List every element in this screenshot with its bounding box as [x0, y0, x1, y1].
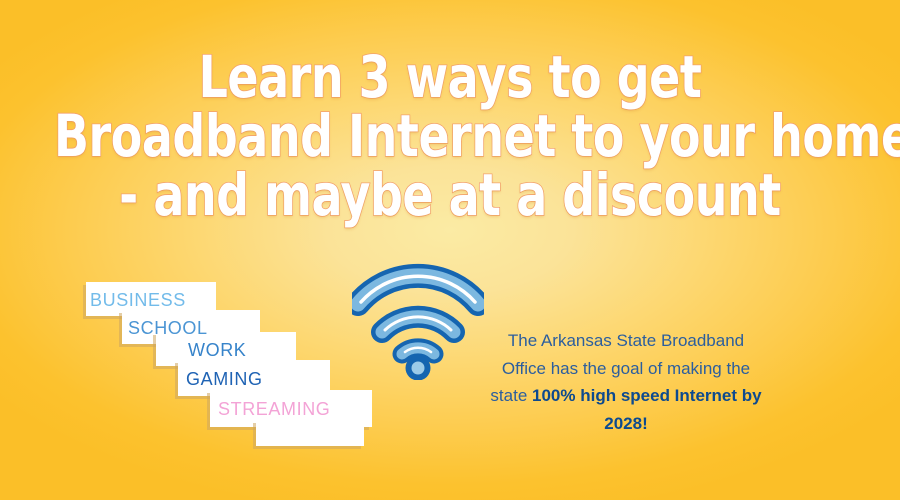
staircase-label-gaming: GAMING — [186, 370, 263, 388]
staircase-label-work: WORK — [188, 341, 246, 359]
staircase-label-school: SCHOOL — [128, 319, 208, 337]
broadband-promo-poster: Learn 3 ways to get Broadband Internet t… — [0, 0, 900, 500]
wifi-signal-icon — [352, 258, 484, 380]
wifi-dot-center — [412, 362, 425, 375]
headline-line-3: - and maybe at a discount — [54, 166, 846, 224]
goal-text-emphasis: 100% high speed Internet by 2028! — [532, 386, 762, 433]
broadband-goal-text: The Arkansas State Broadband Office has … — [484, 327, 768, 437]
staircase-label-streaming: STREAMING — [218, 400, 330, 418]
use-case-staircase: BUSINESS SCHOOL WORK GAMING STREAMING — [78, 282, 368, 447]
headline-line-1: Learn 3 ways to get — [54, 48, 846, 106]
staircase-label-business: BUSINESS — [90, 291, 186, 309]
headline: Learn 3 ways to get Broadband Internet t… — [0, 48, 900, 224]
headline-line-2: Broadband Internet to your home — [54, 107, 846, 165]
staircase-block — [256, 420, 364, 446]
